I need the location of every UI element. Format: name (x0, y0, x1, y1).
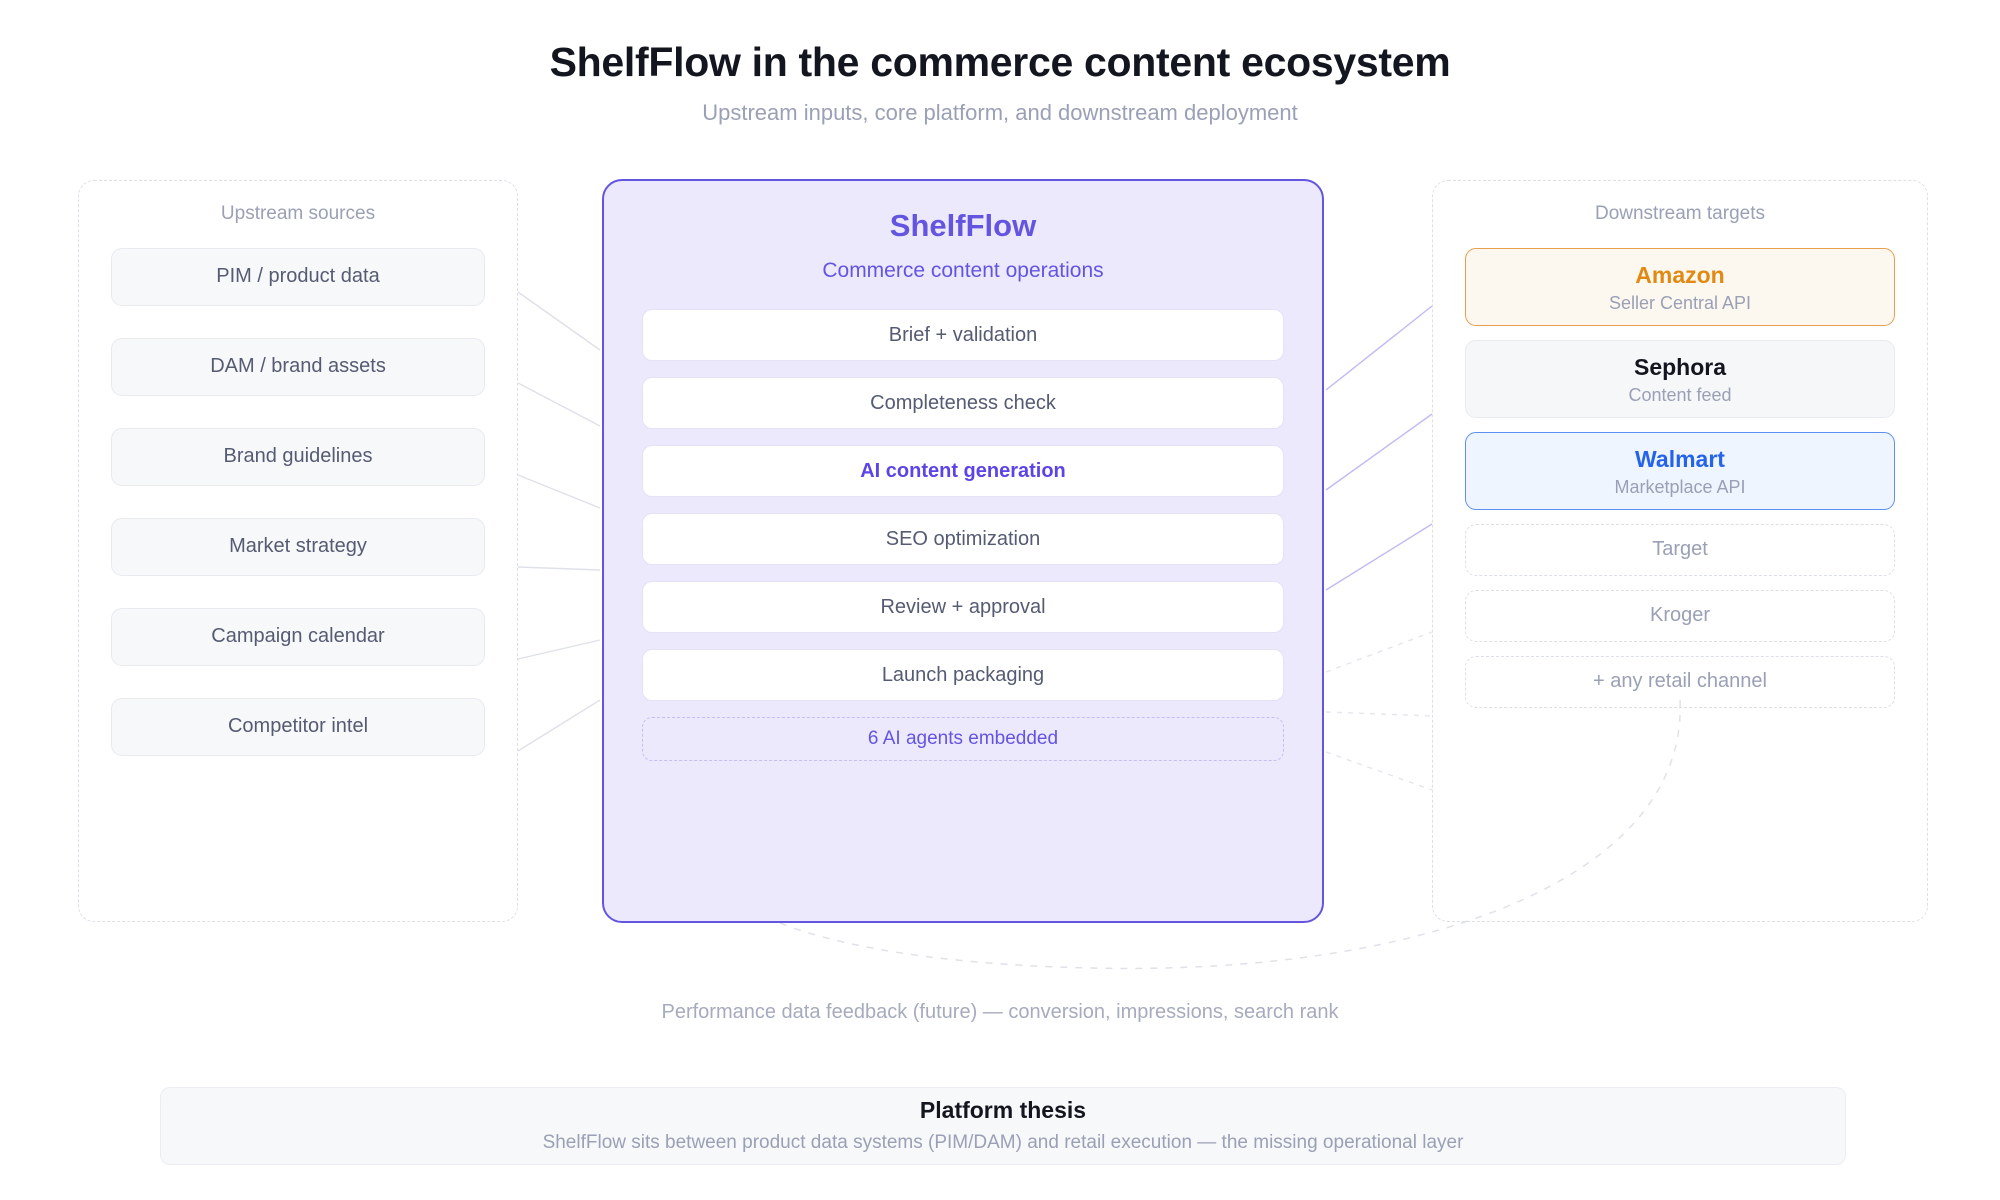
downstream-item-amazon[interactable]: Amazon Seller Central API (1465, 248, 1895, 326)
upstream-item-dam[interactable]: DAM / brand assets (111, 338, 485, 396)
downstream-item-target[interactable]: Target (1465, 524, 1895, 576)
downstream-item-name: Walmart (1476, 445, 1884, 474)
pipeline-step-label: Completeness check (870, 392, 1056, 415)
upstream-item-label: Market strategy (229, 535, 367, 558)
upstream-item-label: Brand guidelines (224, 445, 373, 468)
upstream-sources-panel: Upstream sources PIM / product data DAM … (78, 180, 518, 922)
platform-tagline: Commerce content operations (642, 258, 1284, 283)
upstream-item-market-strategy[interactable]: Market strategy (111, 518, 485, 576)
downstream-item-name: Target (1652, 537, 1708, 562)
downstream-item-kroger[interactable]: Kroger (1465, 590, 1895, 642)
feedback-loop-caption: Performance data feedback (future) — con… (0, 1000, 2000, 1024)
downstream-item-walmart[interactable]: Walmart Marketplace API (1465, 432, 1895, 510)
downstream-connectors-muted (1326, 632, 1432, 790)
upstream-item-label: Campaign calendar (211, 625, 384, 648)
downstream-item-sub: Seller Central API (1476, 293, 1884, 315)
upstream-connectors (518, 292, 600, 751)
downstream-item-sub: Content feed (1476, 385, 1884, 407)
downstream-item-name: Sephora (1476, 353, 1884, 382)
downstream-item-any-retail-channel[interactable]: + any retail channel (1465, 656, 1895, 708)
pipeline-step-label: Review + approval (880, 596, 1045, 619)
downstream-item-sephora[interactable]: Sephora Content feed (1465, 340, 1895, 418)
pipeline-step-review-approval[interactable]: Review + approval (642, 581, 1284, 633)
downstream-item-name: Amazon (1476, 261, 1884, 290)
downstream-heading: Downstream targets (1465, 203, 1895, 226)
pipeline-step-brief-validation[interactable]: Brief + validation (642, 309, 1284, 361)
downstream-item-name: Kroger (1650, 603, 1710, 628)
pipeline-step-label: AI content generation (860, 460, 1066, 483)
ai-agents-badge: 6 AI agents embedded (642, 717, 1284, 761)
downstream-item-sub: Marketplace API (1476, 477, 1884, 499)
pipeline-step-completeness-check[interactable]: Completeness check (642, 377, 1284, 429)
upstream-item-brand-guidelines[interactable]: Brand guidelines (111, 428, 485, 486)
upstream-item-pim[interactable]: PIM / product data (111, 248, 485, 306)
platform-thesis-title: Platform thesis (920, 1097, 1086, 1125)
pipeline-step-ai-content-generation[interactable]: AI content generation (642, 445, 1284, 497)
pipeline-step-launch-packaging[interactable]: Launch packaging (642, 649, 1284, 701)
upstream-item-competitor-intel[interactable]: Competitor intel (111, 698, 485, 756)
downstream-item-name: + any retail channel (1593, 669, 1767, 694)
pipeline-step-label: Launch packaging (882, 664, 1044, 687)
platform-thesis-body: ShelfFlow sits between product data syst… (543, 1132, 1464, 1155)
pipeline-step-label: Brief + validation (889, 324, 1037, 347)
diagram-header: ShelfFlow in the commerce content ecosys… (0, 40, 2000, 126)
upstream-item-campaign-calendar[interactable]: Campaign calendar (111, 608, 485, 666)
downstream-connectors (1326, 306, 1432, 590)
upstream-item-label: PIM / product data (216, 265, 379, 288)
upstream-item-label: Competitor intel (228, 715, 368, 738)
downstream-targets-panel: Downstream targets Amazon Seller Central… (1432, 180, 1928, 922)
pipeline-step-label: SEO optimization (886, 528, 1041, 551)
platform-name: ShelfFlow (642, 207, 1284, 244)
shelfflow-platform-panel: ShelfFlow Commerce content operations Br… (602, 179, 1324, 923)
upstream-heading: Upstream sources (111, 203, 485, 226)
upstream-item-label: DAM / brand assets (210, 355, 386, 378)
platform-thesis-panel: Platform thesis ShelfFlow sits between p… (160, 1087, 1846, 1165)
page-title: ShelfFlow in the commerce content ecosys… (0, 40, 2000, 86)
pipeline-step-seo-optimization[interactable]: SEO optimization (642, 513, 1284, 565)
ai-agents-badge-label: 6 AI agents embedded (868, 728, 1058, 750)
page-subtitle: Upstream inputs, core platform, and down… (0, 100, 2000, 126)
diagram-canvas: ShelfFlow in the commerce content ecosys… (0, 0, 2000, 1200)
